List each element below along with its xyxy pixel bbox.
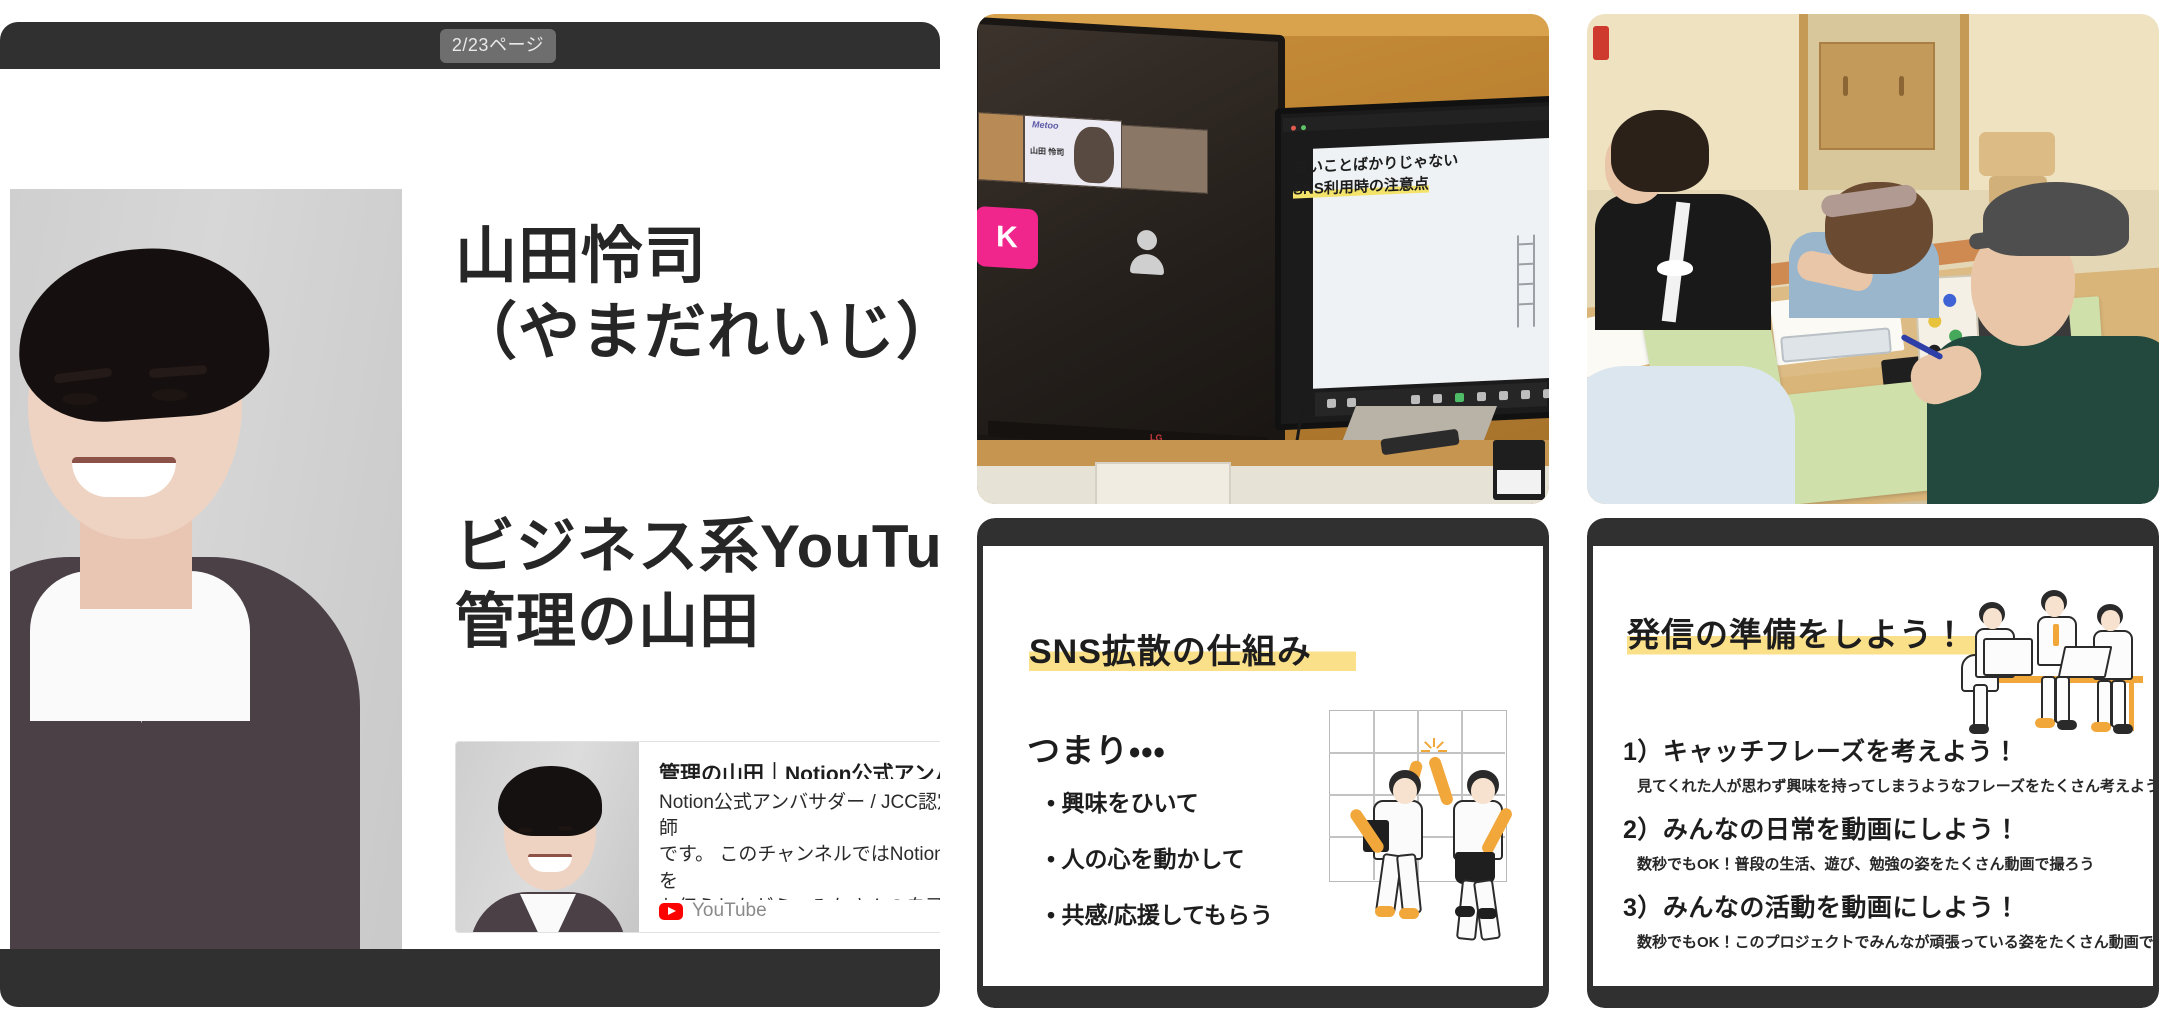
app-badge-k: K xyxy=(977,206,1038,270)
slide-hasshin-frame: 発信の準備をしよう！ 1）キャッチフレーズを考えよう！ 見てくれた人が思わず興味… xyxy=(1587,518,2159,1008)
gallery-cell-slide-sns[interactable]: SNS拡散の仕組み つまり・・・ 興味をひいて 人の心を動かして 共感/応援して… xyxy=(977,518,1549,1008)
hasshin-step-2-sub: 数秒でもOK！普段の生活、遊び、勉強の姿をたくさん動画で撮ろう xyxy=(1637,853,2137,874)
illustration-laptop xyxy=(2058,646,2113,678)
hasshin-step-3: 3）みんなの活動を動画にしよう！ 数秒でもOK！このプロジェクトでみんなが頑張っ… xyxy=(1623,888,2137,952)
slide-sns-bottombar xyxy=(977,986,1549,1008)
toolbar-icon-chat xyxy=(1433,394,1442,403)
youtube-channel-card[interactable]: 管理の山田｜Notion公式アンバサダー Notion公式アンバサダー / JC… xyxy=(455,741,940,933)
speaker-role-line-2: 管理の山田 xyxy=(455,585,940,659)
participant-name-label: 山田 怜司 xyxy=(1030,145,1064,158)
cabinet-handle-right xyxy=(1899,76,1904,96)
page-indicator-badge[interactable]: 2/23ページ xyxy=(440,29,556,63)
speaker-portrait-photo xyxy=(10,189,402,949)
gallery-cell-slide-hasshin[interactable]: 発信の準備をしよう！ 1）キャッチフレーズを考えよう！ 見てくれた人が思わず興味… xyxy=(1587,518,2159,1008)
slide-hasshin-bottombar xyxy=(1587,986,2159,1008)
portrait-eye-left xyxy=(62,393,98,405)
thumb-eye-left xyxy=(518,828,533,833)
slide-sns-title: SNS拡散の仕組み xyxy=(1029,624,1356,673)
hasshin-step-1: 1）キャッチフレーズを考えよう！ 見てくれた人が思わず興味を持ってしまうようなフ… xyxy=(1623,732,2137,796)
hasshin-step-3-sub: 数秒でもOK！このプロジェクトでみんなが頑張っている姿をたくさん動画で撮ろう xyxy=(1637,931,2137,952)
screenshot-stage: 2/23ページ xyxy=(0,0,2184,1034)
student-left xyxy=(1595,110,1781,330)
youtube-card-meta: 管理の山田｜Notion公式アンバサダー Notion公式アンバサダー / JC… xyxy=(639,742,940,932)
illustration-monitor xyxy=(1983,638,2033,676)
team-working-illustration xyxy=(1957,580,2147,740)
main-slide-topbar: 2/23ページ xyxy=(0,22,940,69)
wall-tablet-screen xyxy=(1497,470,1541,494)
thumb-eye-right xyxy=(558,826,573,831)
slide-sns-lead: つまり・・・ xyxy=(1027,724,1166,772)
slide-sns-topbar xyxy=(977,518,1549,546)
student-foreground xyxy=(1587,366,1795,504)
youtube-card-description: Notion公式アンバサダー / JCC認定プロ講師 です。 このチャンネルでは… xyxy=(659,790,940,900)
large-display-tv: Metoo 山田 怜司 K LG xyxy=(977,17,1285,460)
avatar-placeholder-icon xyxy=(1128,229,1166,277)
slide-text-column: 山田怜司 （やまだれいじ） ビジネス系YouTube 管理の山田 xyxy=(455,219,940,659)
secondary-monitor: 良いことばかりじゃない SNS利用時の注意点 xyxy=(1275,96,1549,431)
hasshin-step-1-sub: 見てくれた人が思わず興味を持ってしまうようなフレーズをたくさん考えよう xyxy=(1637,775,2137,796)
metoo-brand-label: Metoo xyxy=(1032,119,1059,131)
portrait-eye-right xyxy=(152,389,188,401)
toolbar-icon-apps xyxy=(1521,390,1530,399)
speaker-role-line-1: ビジネス系YouTube xyxy=(455,510,940,584)
photo-classroom-display: Metoo 山田 怜司 K LG xyxy=(977,14,1549,504)
toolbar-icon-record xyxy=(1477,392,1486,401)
slide-sns-bullet-3: 共感/応援してもらう xyxy=(1047,896,1273,930)
speaker-name-line-1: 山田怜司 xyxy=(455,219,940,295)
main-slide-frame: 2/23ページ xyxy=(0,22,940,1007)
youtube-card-desc-line-1: Notion公式アンバサダー / JCC認定プロ講師 xyxy=(659,790,940,842)
thumb-hair xyxy=(498,766,602,836)
youtube-icon xyxy=(659,903,683,920)
gallery-cell-classroom-display[interactable]: Metoo 山田 怜司 K LG xyxy=(977,14,1549,504)
youtube-card-desc-line-2: です。 このチャンネルではNotionの使い方を xyxy=(659,842,940,894)
desk-shelf xyxy=(977,466,1549,504)
slide-sns-bullet-1: 興味をひいて xyxy=(1047,784,1273,818)
slide-hasshin-topbar xyxy=(1587,518,2159,546)
main-slide-canvas: 山田怜司 （やまだれいじ） ビジネス系YouTube 管理の山田 xyxy=(0,69,940,949)
person-right xyxy=(1433,754,1515,900)
video-tile-1 xyxy=(978,112,1024,183)
ladder-illustration xyxy=(1513,234,1539,327)
toolbar-icon-mic xyxy=(1327,399,1336,408)
paper-tray xyxy=(1095,462,1231,504)
hasshin-step-3-heading: 3）みんなの活動を動画にしよう！ xyxy=(1623,888,2137,924)
youtube-card-thumbnail xyxy=(456,742,639,932)
portrait-hair xyxy=(12,240,273,427)
youtube-card-title: 管理の山田｜Notion公式アンバサダー xyxy=(659,758,940,779)
toolbar-icon-more xyxy=(1543,389,1549,398)
slide-sns-bullet-2: 人の心を動かして xyxy=(1047,840,1273,874)
speaker-role-block: ビジネス系YouTube 管理の山田 xyxy=(455,510,940,659)
hasshin-step-2: 2）みんなの日常を動画にしよう！ 数秒でもOK！普段の生活、遊び、勉強の姿をたく… xyxy=(1623,810,2137,874)
student-right-cap xyxy=(1945,182,2159,502)
slide-hasshin-canvas: 発信の準備をしよう！ 1）キャッチフレーズを考えよう！ 見てくれた人が思わず興味… xyxy=(1593,546,2153,986)
window-close-dot xyxy=(1291,125,1296,130)
video-tile-3 xyxy=(1121,125,1208,194)
photo-students-desks xyxy=(1587,14,2159,504)
monitor-window-titlebar xyxy=(1283,106,1549,132)
gallery-grid: Metoo 山田 怜司 K LG xyxy=(977,14,2173,1020)
presented-slide-line-2: SNS利用時の注意点 xyxy=(1293,176,1429,199)
slide-sns-bullet-list: 興味をひいて 人の心を動かして 共感/応援してもらう xyxy=(1047,784,1273,952)
speaker-name-line-2: （やまだれいじ） xyxy=(455,295,940,371)
youtube-card-source: YouTube xyxy=(659,900,940,922)
toolbar-icon-reactions xyxy=(1499,391,1508,400)
toolbar-icon-share xyxy=(1455,393,1464,402)
fire-extinguisher xyxy=(1593,26,1609,60)
high-five-illustration xyxy=(1329,710,1529,900)
person-left xyxy=(1365,756,1443,900)
cabinet-handle-left xyxy=(1843,76,1848,96)
slide-sns-canvas: SNS拡散の仕組み つまり・・・ 興味をひいて 人の心を動かして 共感/応援して… xyxy=(983,546,1543,986)
slide-hasshin-steps: 1）キャッチフレーズを考えよう！ 見てくれた人が思わず興味を持ってしまうようなフ… xyxy=(1623,732,2137,966)
participant-head-silhouette xyxy=(1074,126,1114,184)
cabinet xyxy=(1819,42,1935,150)
slide-hasshin-title: 発信の準備をしよう！ xyxy=(1627,608,2007,656)
slide-sns-frame: SNS拡散の仕組み つまり・・・ 興味をひいて 人の心を動かして 共感/応援して… xyxy=(977,518,1549,1008)
toolbar-icon-camera xyxy=(1347,398,1356,407)
gallery-cell-students-desks[interactable] xyxy=(1587,14,2159,504)
youtube-source-label: YouTube xyxy=(692,900,767,922)
toolbar-icon-participants xyxy=(1411,395,1420,404)
window-minimize-dot xyxy=(1301,125,1306,130)
main-slide-panel[interactable]: 2/23ページ xyxy=(0,22,940,1007)
hasshin-step-2-heading: 2）みんなの日常を動画にしよう！ xyxy=(1623,810,2137,846)
